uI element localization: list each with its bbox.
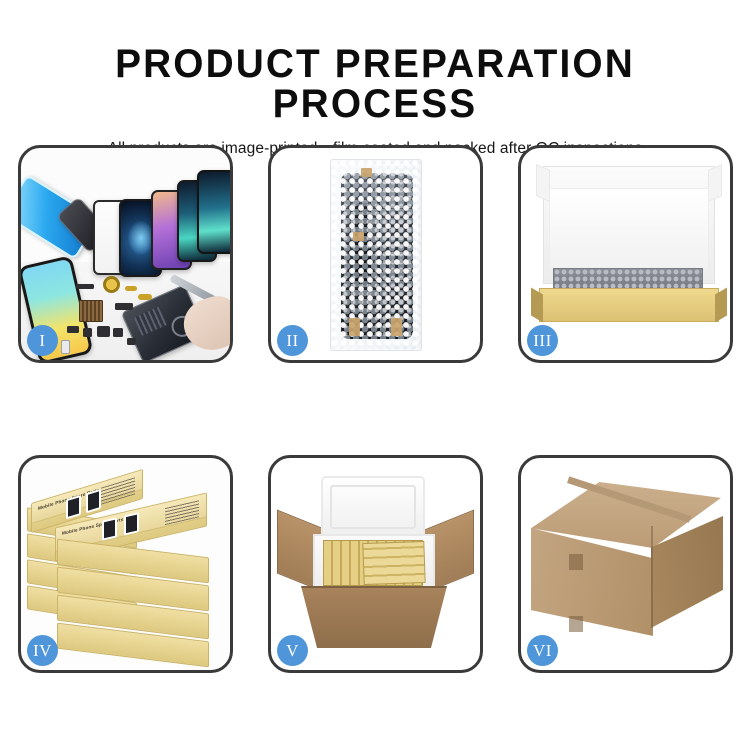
foam-box-lid (321, 476, 425, 538)
bubble-wrap-bag (330, 159, 422, 351)
flex-cable-part (125, 286, 137, 291)
step-panel-2: II (268, 145, 483, 363)
carton-tape-mark-1 (569, 554, 583, 570)
box-spec-lines (165, 500, 199, 525)
speaker-ring-part (103, 276, 120, 293)
small-component-part-4 (113, 328, 123, 337)
kraft-box-base (539, 288, 719, 322)
step-badge-3: III (527, 325, 558, 356)
small-component-part (67, 326, 79, 333)
step-panel-4: Mobile Phone Spare Parts Mobile Phone Sp… (18, 455, 233, 673)
tape-piece-2 (353, 232, 364, 241)
step-panel-5: V (268, 455, 483, 673)
small-component-part-2 (83, 328, 92, 337)
logic-board-part (79, 300, 103, 322)
box-screen-image-2 (86, 489, 101, 514)
step-badge-6: VI (527, 635, 558, 666)
camera-module-part (115, 303, 133, 310)
box-screen-image-1 (66, 495, 81, 520)
small-component-part-3 (97, 326, 110, 337)
small-component-part-5 (127, 338, 136, 345)
step-badge-5: V (277, 635, 308, 666)
step-panel-1: I (18, 145, 233, 363)
bubble-texture-overlay (331, 160, 421, 350)
phone-teal-display-2 (197, 170, 230, 254)
process-steps-grid: I II (18, 145, 733, 705)
carton-vertical-edge (651, 526, 653, 628)
carton-tape-mark-2 (569, 616, 583, 632)
step-panel-6: VI (518, 455, 733, 673)
step-panel-3: III (518, 145, 733, 363)
inner-yellow-boxes-2 (362, 541, 425, 585)
tape-piece-4 (391, 318, 402, 336)
carton-front-panel (301, 586, 447, 648)
step-badge-1: I (27, 325, 58, 356)
step-badge-4: IV (27, 635, 58, 666)
product-preparation-infographic: PRODUCT PREPARATION PROCESS All products… (0, 0, 750, 750)
flex-cable-part-2 (138, 294, 152, 300)
header: PRODUCT PREPARATION PROCESS All products… (0, 0, 750, 158)
tape-piece-3 (349, 318, 360, 336)
foam-sheet (549, 188, 709, 270)
box-spec-lines (101, 477, 135, 504)
box-screen-image-1 (102, 517, 117, 540)
box-screen-image-2 (124, 512, 139, 535)
step-badge-2: II (277, 325, 308, 356)
sim-tray-part (61, 340, 70, 354)
page-title: PRODUCT PREPARATION PROCESS (11, 44, 739, 124)
tape-piece-1 (361, 168, 372, 177)
connector-strip-part (76, 284, 94, 289)
box-stack: Mobile Phone Spare Parts Mobile Phone Sp… (27, 472, 227, 664)
